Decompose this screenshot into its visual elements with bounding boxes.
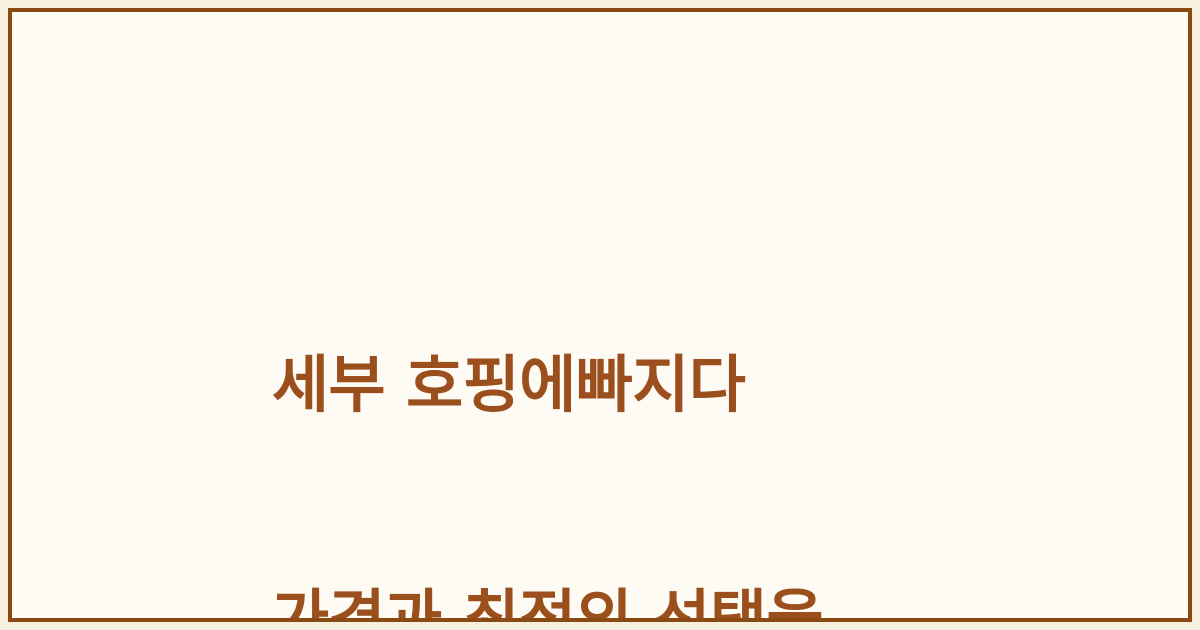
bordered-frame: 세부 호핑에빠지다 가격과 최적의 선택을 위한 가이드	[8, 8, 1192, 622]
page-title: 세부 호핑에빠지다 가격과 최적의 선택을 위한 가이드	[272, 190, 1152, 622]
headline-line-1: 세부 호핑에빠지다	[272, 346, 1152, 424]
thumbnail-canvas: 세부 호핑에빠지다 가격과 최적의 선택을 위한 가이드	[0, 0, 1200, 630]
headline-line-2: 가격과 최적의 선택을	[272, 580, 1152, 622]
